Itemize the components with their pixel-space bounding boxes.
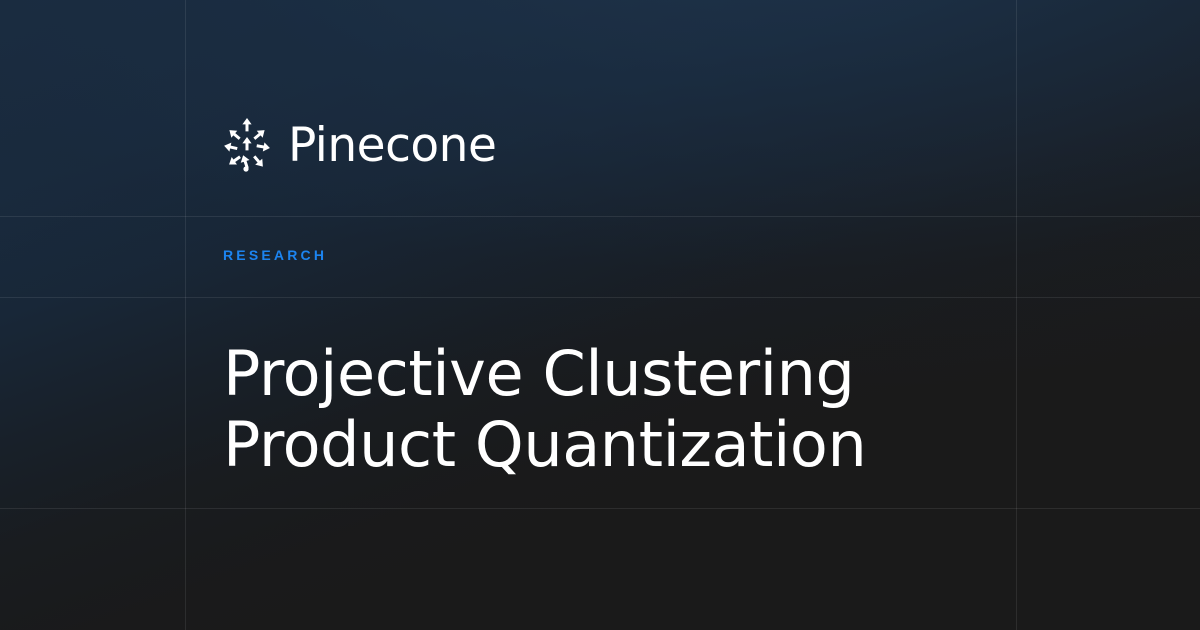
page-title-line-1: Projective Clustering — [223, 338, 983, 409]
card-content: Pinecone RESEARCH Projective Clustering … — [185, 0, 1016, 630]
category-eyebrow: RESEARCH — [223, 247, 327, 263]
brand-wordmark: Pinecone — [288, 122, 496, 169]
share-card-canvas: Pinecone RESEARCH Projective Clustering … — [0, 0, 1200, 630]
page-title: Projective Clustering Product Quantizati… — [223, 338, 983, 480]
brand-logo: Pinecone — [223, 118, 496, 172]
page-title-line-2: Product Quantization — [223, 409, 983, 480]
pinecone-arrows-cluster-icon — [223, 118, 271, 172]
